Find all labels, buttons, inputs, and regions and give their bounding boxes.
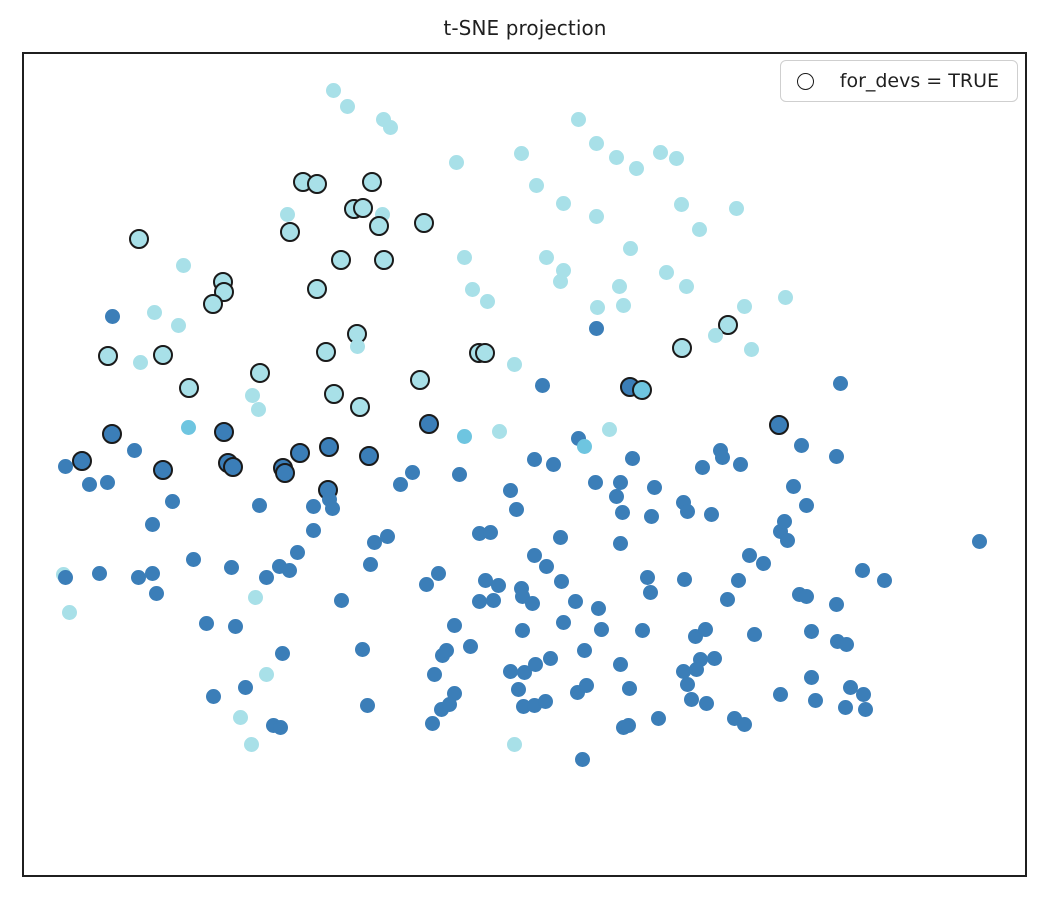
- scatter-point: [525, 596, 540, 611]
- scatter-point-highlighted: [331, 250, 351, 270]
- scatter-point: [133, 355, 148, 370]
- scatter-point: [326, 83, 341, 98]
- scatter-point: [613, 475, 628, 490]
- scatter-point: [527, 548, 542, 563]
- scatter-point-highlighted: [632, 380, 652, 400]
- scatter-point: [334, 593, 349, 608]
- scatter-point: [591, 601, 606, 616]
- scatter-point: [529, 178, 544, 193]
- scatter-point: [556, 615, 571, 630]
- scatter-point: [224, 560, 239, 575]
- scatter-point: [674, 197, 689, 212]
- scatter-point-highlighted: [250, 363, 270, 383]
- scatter-point: [829, 597, 844, 612]
- scatter-point: [280, 207, 295, 222]
- scatter-point-highlighted: [316, 342, 336, 362]
- scatter-point: [589, 136, 604, 151]
- scatter-point: [777, 514, 792, 529]
- scatter-point: [877, 573, 892, 588]
- scatter-point: [480, 294, 495, 309]
- scatter-point: [698, 622, 713, 637]
- scatter-point: [449, 155, 464, 170]
- scatter-point: [808, 693, 823, 708]
- scatter-point: [425, 716, 440, 731]
- scatter-point: [729, 201, 744, 216]
- scatter-point: [383, 120, 398, 135]
- scatter-point: [472, 594, 487, 609]
- scatter-point: [858, 702, 873, 717]
- scatter-point: [613, 657, 628, 672]
- scatter-point: [579, 678, 594, 693]
- scatter-point: [350, 339, 365, 354]
- scatter-point: [252, 498, 267, 513]
- scatter-point-highlighted: [362, 172, 382, 192]
- scatter-point: [325, 501, 340, 516]
- scatter-point-highlighted: [290, 443, 310, 463]
- scatter-point-highlighted: [307, 279, 327, 299]
- scatter-point: [82, 477, 97, 492]
- scatter-point: [251, 402, 266, 417]
- scatter-point: [715, 450, 730, 465]
- scatter-point: [535, 378, 550, 393]
- legend-open-circle-icon: [797, 73, 814, 90]
- scatter-point: [92, 566, 107, 581]
- scatter-point: [186, 552, 201, 567]
- scatter-point: [680, 504, 695, 519]
- scatter-point: [363, 557, 378, 572]
- scatter-point: [838, 700, 853, 715]
- scatter-point: [856, 687, 871, 702]
- scatter-point: [616, 298, 631, 313]
- scatter-point: [855, 563, 870, 578]
- scatter-point: [773, 687, 788, 702]
- scatter-point: [442, 697, 457, 712]
- scatter-point-highlighted: [769, 415, 789, 435]
- scatter-point: [594, 622, 609, 637]
- scatter-point-highlighted: [359, 446, 379, 466]
- scatter-point: [509, 502, 524, 517]
- scatter-point: [360, 698, 375, 713]
- scatter-point-highlighted: [324, 384, 344, 404]
- scatter-point: [165, 494, 180, 509]
- scatter-point: [528, 657, 543, 672]
- scatter-point: [483, 525, 498, 540]
- scatter-point: [176, 258, 191, 273]
- scatter-point: [539, 250, 554, 265]
- scatter-point-highlighted: [203, 294, 223, 314]
- scatter-point: [427, 667, 442, 682]
- scatter-point: [756, 556, 771, 571]
- scatter-point: [643, 585, 658, 600]
- scatter-point: [737, 299, 752, 314]
- scatter-point: [431, 566, 446, 581]
- scatter-point: [503, 483, 518, 498]
- scatter-point: [635, 623, 650, 638]
- scatter-point-highlighted: [275, 463, 295, 483]
- scatter-point: [742, 548, 757, 563]
- scatter-point: [447, 618, 462, 633]
- scatter-point: [590, 300, 605, 315]
- scatter-point: [972, 534, 987, 549]
- scatter-point: [465, 282, 480, 297]
- scatter-point: [511, 682, 526, 697]
- scatter-point-highlighted: [153, 460, 173, 480]
- scatter-point-highlighted: [153, 345, 173, 365]
- scatter-point: [527, 452, 542, 467]
- scatter-point-highlighted: [129, 229, 149, 249]
- scatter-point: [206, 689, 221, 704]
- scatter-point: [659, 265, 674, 280]
- scatter-point: [259, 570, 274, 585]
- scatter-point: [181, 420, 196, 435]
- scatter-point: [244, 737, 259, 752]
- scatter-point: [149, 586, 164, 601]
- scatter-point: [804, 670, 819, 685]
- scatter-point: [695, 460, 710, 475]
- legend-label: for_devs = TRUE: [840, 70, 999, 92]
- scatter-point-highlighted: [419, 414, 439, 434]
- scatter-point: [127, 443, 142, 458]
- scatter-point: [684, 692, 699, 707]
- scatter-point-highlighted: [280, 222, 300, 242]
- scatter-point: [452, 467, 467, 482]
- scatter-point: [514, 146, 529, 161]
- tsne-figure: t-SNE projection for_devs = TRUE: [0, 0, 1050, 900]
- scatter-point: [238, 680, 253, 695]
- scatter-point-highlighted: [179, 378, 199, 398]
- scatter-point: [708, 328, 723, 343]
- scatter-point: [704, 507, 719, 522]
- scatter-point: [720, 592, 735, 607]
- scatter-point: [571, 112, 586, 127]
- scatter-point: [145, 517, 160, 532]
- scatter-points-layer: [24, 54, 1025, 875]
- scatter-point: [577, 643, 592, 658]
- scatter-point: [568, 594, 583, 609]
- scatter-point: [794, 438, 809, 453]
- scatter-point: [780, 533, 795, 548]
- scatter-point: [689, 662, 704, 677]
- scatter-point-highlighted: [672, 338, 692, 358]
- scatter-point: [609, 150, 624, 165]
- scatter-point: [680, 677, 695, 692]
- scatter-point: [651, 711, 666, 726]
- scatter-point: [131, 570, 146, 585]
- scatter-point-highlighted: [414, 213, 434, 233]
- scatter-point: [640, 570, 655, 585]
- scatter-point: [507, 357, 522, 372]
- scatter-point: [507, 737, 522, 752]
- scatter-point: [653, 145, 668, 160]
- scatter-point: [647, 480, 662, 495]
- scatter-point: [589, 209, 604, 224]
- scatter-point: [589, 321, 604, 336]
- scatter-point: [553, 530, 568, 545]
- scatter-point: [625, 451, 640, 466]
- scatter-point: [699, 696, 714, 711]
- scatter-point: [833, 376, 848, 391]
- scatter-point: [692, 222, 707, 237]
- scatter-point: [282, 563, 297, 578]
- scatter-point: [786, 479, 801, 494]
- scatter-point-highlighted: [223, 457, 243, 477]
- scatter-point: [393, 477, 408, 492]
- scatter-point: [615, 505, 630, 520]
- scatter-point: [731, 573, 746, 588]
- scatter-point: [588, 475, 603, 490]
- scatter-point: [575, 752, 590, 767]
- scatter-point: [669, 151, 684, 166]
- scatter-point: [275, 646, 290, 661]
- scatter-point: [105, 309, 120, 324]
- scatter-point: [778, 290, 793, 305]
- scatter-point: [245, 388, 260, 403]
- scatter-point: [546, 457, 561, 472]
- scatter-point: [612, 279, 627, 294]
- scatter-point: [380, 529, 395, 544]
- scatter-point: [199, 616, 214, 631]
- scatter-point-highlighted: [374, 250, 394, 270]
- scatter-point: [248, 590, 263, 605]
- scatter-point: [171, 318, 186, 333]
- scatter-point: [839, 637, 854, 652]
- scatter-point: [747, 627, 762, 642]
- plot-area: for_devs = TRUE: [22, 52, 1027, 877]
- scatter-point-highlighted: [102, 424, 122, 444]
- scatter-point: [419, 577, 434, 592]
- scatter-point: [491, 578, 506, 593]
- scatter-point: [492, 424, 507, 439]
- scatter-point-highlighted: [98, 346, 118, 366]
- scatter-point: [623, 241, 638, 256]
- scatter-point-highlighted: [369, 216, 389, 236]
- scatter-point: [577, 439, 592, 454]
- scatter-point: [457, 250, 472, 265]
- scatter-point: [613, 536, 628, 551]
- scatter-point: [621, 718, 636, 733]
- scatter-point-highlighted: [353, 198, 373, 218]
- scatter-point: [553, 274, 568, 289]
- scatter-point: [145, 566, 160, 581]
- scatter-point: [622, 681, 637, 696]
- scatter-point: [228, 619, 243, 634]
- scatter-point: [259, 667, 274, 682]
- scatter-point: [306, 499, 321, 514]
- scatter-point-highlighted: [72, 451, 92, 471]
- scatter-point: [677, 572, 692, 587]
- scatter-point: [737, 717, 752, 732]
- scatter-point: [679, 279, 694, 294]
- page-title: t-SNE projection: [0, 16, 1050, 40]
- scatter-point: [554, 574, 569, 589]
- scatter-point: [486, 593, 501, 608]
- scatter-point: [799, 498, 814, 513]
- scatter-point: [457, 429, 472, 444]
- scatter-point: [147, 305, 162, 320]
- scatter-point-highlighted: [307, 174, 327, 194]
- scatter-point: [340, 99, 355, 114]
- scatter-point: [58, 570, 73, 585]
- scatter-point: [733, 457, 748, 472]
- scatter-point: [439, 643, 454, 658]
- scatter-point: [273, 720, 288, 735]
- scatter-point: [799, 589, 814, 604]
- scatter-point: [503, 664, 518, 679]
- scatter-point: [233, 710, 248, 725]
- scatter-point-highlighted: [319, 437, 339, 457]
- scatter-point-highlighted: [214, 422, 234, 442]
- scatter-point: [100, 475, 115, 490]
- legend[interactable]: for_devs = TRUE: [780, 60, 1018, 102]
- scatter-point: [829, 449, 844, 464]
- scatter-point: [538, 694, 553, 709]
- scatter-point: [355, 642, 370, 657]
- scatter-point: [290, 545, 305, 560]
- scatter-point: [306, 523, 321, 538]
- scatter-point-highlighted: [350, 397, 370, 417]
- scatter-point: [405, 465, 420, 480]
- scatter-point: [744, 342, 759, 357]
- scatter-point: [707, 651, 722, 666]
- scatter-point: [539, 559, 554, 574]
- scatter-point: [463, 639, 478, 654]
- scatter-point: [609, 489, 624, 504]
- scatter-point: [644, 509, 659, 524]
- scatter-point: [629, 161, 644, 176]
- scatter-point: [556, 196, 571, 211]
- scatter-point: [62, 605, 77, 620]
- scatter-point: [515, 623, 530, 638]
- scatter-point-highlighted: [475, 343, 495, 363]
- scatter-point-highlighted: [410, 370, 430, 390]
- scatter-point: [602, 422, 617, 437]
- scatter-point: [543, 651, 558, 666]
- scatter-point: [804, 624, 819, 639]
